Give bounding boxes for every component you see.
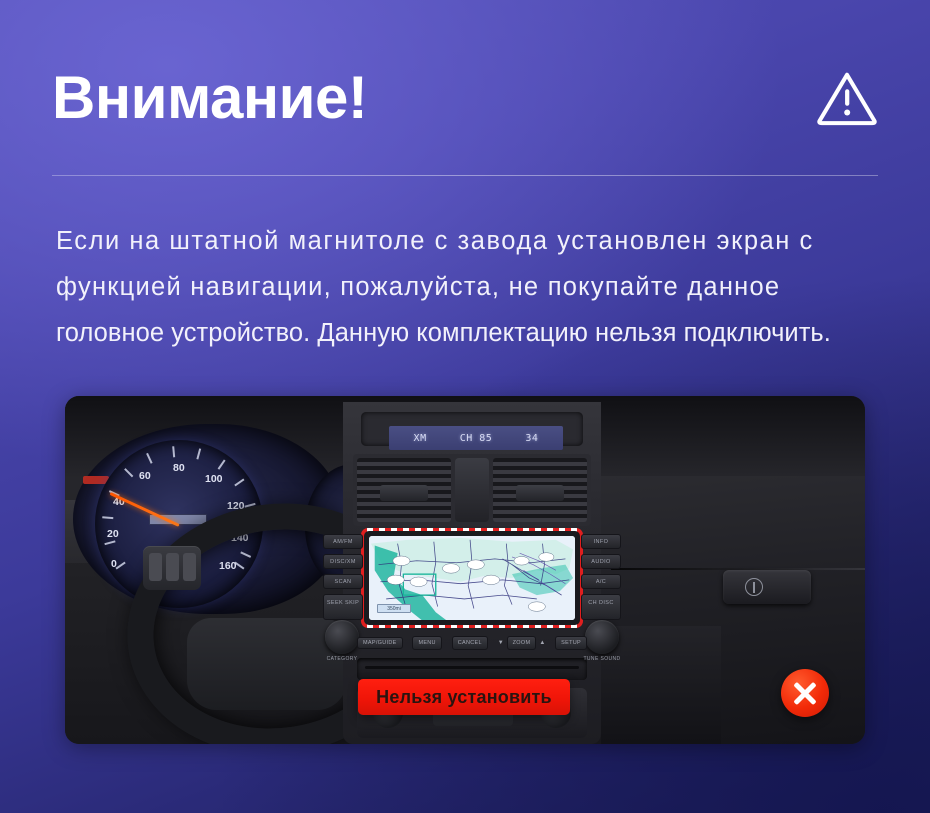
speedo-tick-0: 0 — [111, 558, 117, 570]
map-scale-label: 350mi — [378, 605, 410, 613]
cannot-install-label: Нельзя установить — [376, 687, 552, 708]
scan-button[interactable]: SCAN — [323, 574, 363, 589]
lcd-source-text: XM — [414, 433, 427, 444]
zoom-down-icon[interactable]: ▼ — [498, 640, 504, 646]
zoom-up-icon[interactable]: ▲ — [539, 640, 545, 646]
lcd-preset-text: 34 — [525, 433, 538, 444]
air-vent-right — [493, 458, 587, 522]
setup-button[interactable]: SETUP — [555, 636, 587, 650]
door-panel — [601, 626, 721, 744]
center-air-vents — [353, 454, 591, 526]
hazard-button[interactable] — [455, 458, 489, 522]
page-title: Внимание! — [52, 68, 367, 128]
seek-skip-button[interactable]: SEEK SKIP — [323, 594, 363, 620]
cannot-install-badge: Нельзя установить — [358, 679, 570, 715]
notice-line-1: Если на штатной магнитоле с завода устан… — [56, 218, 878, 264]
map-guide-button[interactable]: MAP/GUIDE — [357, 637, 403, 650]
glovebox-handle — [723, 570, 811, 604]
dashboard-photo: 0 20 40 60 80 100 120 140 160 — [65, 396, 865, 744]
disc-slot[interactable] — [357, 658, 587, 680]
forbidden-x-icon — [781, 669, 829, 717]
factory-navigation-screen[interactable]: 350mi — [369, 536, 575, 620]
warning-triangle-icon — [816, 69, 878, 127]
keyhole-icon — [745, 578, 763, 596]
speedo-tick-20: 20 — [107, 528, 119, 540]
steering-wheel-hub — [187, 618, 347, 710]
info-button[interactable]: INFO — [581, 534, 621, 549]
air-vent-left — [357, 458, 451, 522]
ac-button[interactable]: A/C — [581, 574, 621, 589]
map-scale-indicator: 350mi — [377, 604, 411, 613]
tune-knob-label: TUNE SOUND — [582, 656, 622, 662]
speedo-tick-80: 80 — [173, 462, 185, 474]
zoom-controls: ▼ ZOOM ▲ — [498, 636, 546, 650]
speedo-tick-60: 60 — [139, 470, 151, 482]
radio-right-buttons: INFO AUDIO A/C CH DISC — [581, 534, 621, 620]
lcd-bezel: XM CH 85 34 — [361, 412, 583, 446]
nav-screen-bezel: 350mi — [364, 531, 580, 625]
notice-line-3: головное устройство. Данную комплектацию… — [56, 310, 878, 356]
audio-button[interactable]: AUDIO — [581, 554, 621, 569]
lcd-channel-text: CH 85 — [460, 433, 493, 444]
radio-left-buttons: AM/FM DISC/XM SCAN SEEK SKIP — [323, 534, 363, 620]
radio-lcd-display: XM CH 85 34 — [389, 426, 563, 450]
steering-wheel-controls — [143, 546, 201, 590]
warning-slide: Внимание! Если на штатной магнитоле с за… — [0, 0, 930, 813]
cancel-button[interactable]: CANCEL — [452, 636, 488, 650]
notice-line-2: функцией навигации, пожалуйста, не покуп… — [56, 264, 878, 310]
menu-button[interactable]: MENU — [412, 636, 441, 650]
tune-sound-knob[interactable] — [585, 620, 619, 654]
speedometer-needle — [109, 492, 179, 527]
category-knob[interactable] — [325, 620, 359, 654]
nav-function-buttons: MAP/GUIDE MENU CANCEL ▼ ZOOM ▲ SETUP — [357, 634, 587, 652]
category-knob-label: CATEGORY — [322, 656, 362, 662]
disc-xm-button[interactable]: DISC/XM — [323, 554, 363, 569]
speedo-tick-100: 100 — [205, 473, 223, 485]
notice-text: Если на штатной магнитоле с завода устан… — [56, 218, 878, 356]
header-divider — [52, 175, 878, 176]
header: Внимание! — [52, 52, 878, 144]
ch-disc-button[interactable]: CH DISC — [581, 594, 621, 620]
zoom-button[interactable]: ZOOM — [507, 636, 537, 650]
amfm-button[interactable]: AM/FM — [323, 534, 363, 549]
